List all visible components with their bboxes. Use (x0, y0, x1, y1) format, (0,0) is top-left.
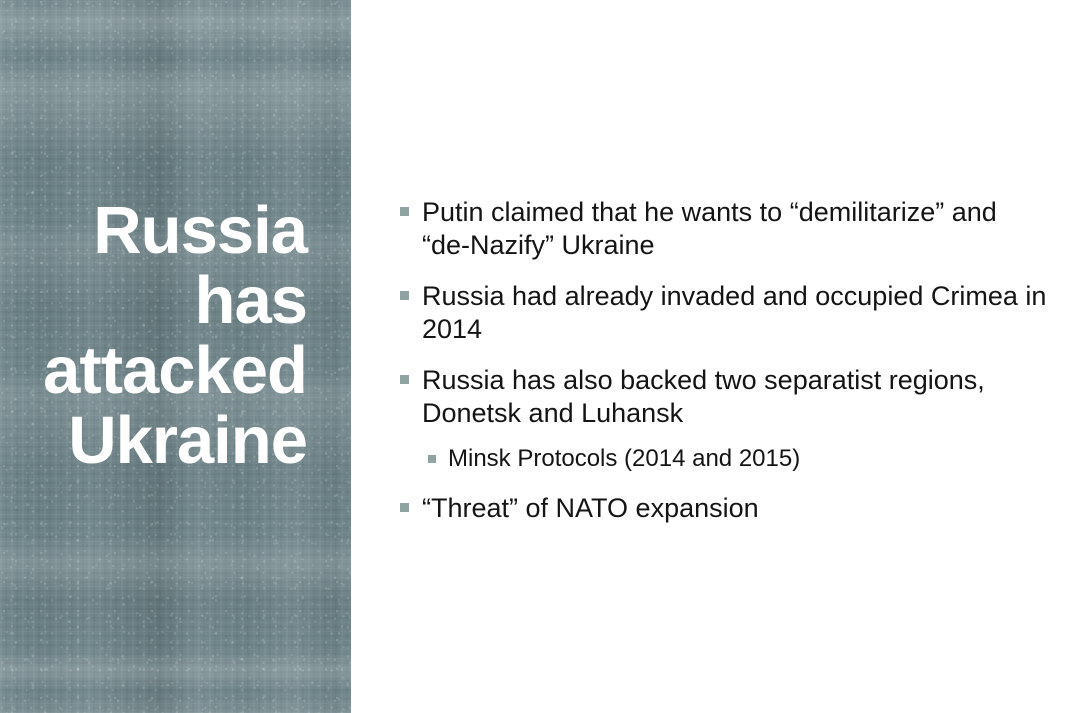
square-bullet-icon (400, 291, 409, 300)
square-bullet-icon (400, 375, 409, 384)
sub-bullet-text: Minsk Protocols (2014 and 2015) (448, 444, 1052, 474)
title-line-3: attacked (0, 336, 307, 406)
square-bullet-icon (428, 455, 436, 463)
square-bullet-icon (400, 207, 409, 216)
title-line-2: has (0, 266, 307, 336)
slide-body-content: Putin claimed that he wants to “demilita… (400, 196, 1052, 543)
bullet-item: Putin claimed that he wants to “demilita… (400, 196, 1052, 262)
sub-bullet-item: Minsk Protocols (2014 and 2015) (428, 444, 1052, 474)
title-line-1: Russia (0, 196, 307, 266)
presentation-slide: Russia has attacked Ukraine Putin claime… (0, 0, 1070, 713)
bullet-item: Russia had already invaded and occupied … (400, 280, 1052, 346)
title-panel: Russia has attacked Ukraine (0, 0, 351, 713)
slide-title: Russia has attacked Ukraine (0, 196, 307, 476)
bullet-item: Russia has also backed two separatist re… (400, 364, 1052, 430)
bullet-text: Putin claimed that he wants to “demilita… (422, 196, 1052, 262)
title-line-4: Ukraine (0, 406, 307, 476)
bullet-item: “Threat” of NATO expansion (400, 492, 1052, 525)
bullet-group: Russia has also backed two separatist re… (400, 364, 1052, 474)
bullet-text: “Threat” of NATO expansion (422, 492, 1052, 525)
bullet-text: Russia had already invaded and occupied … (422, 280, 1052, 346)
bullet-text: Russia has also backed two separatist re… (422, 364, 1052, 430)
square-bullet-icon (400, 503, 409, 512)
